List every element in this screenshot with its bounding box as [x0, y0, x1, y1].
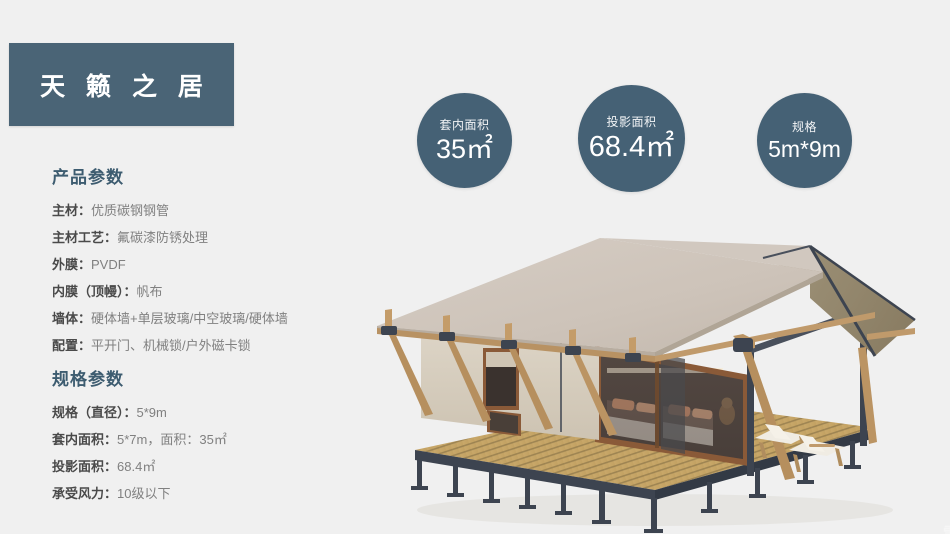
spec-label: 投影面积：	[52, 459, 117, 474]
product-parameters-section: 产品参数 主材：优质碳钢钢管 主材工艺：氟碳漆防锈处理 外膜：PVDF 内膜（顶…	[52, 163, 288, 359]
spec-label: 主材工艺：	[52, 230, 117, 245]
specification-parameters-heading: 规格参数	[52, 365, 227, 390]
spec-row: 外膜：PVDF	[52, 251, 288, 278]
spec-value: 硬体墙+单层玻璃/中空玻璃/硬体墙	[91, 311, 288, 326]
glamping-tent-render: 雪狼帐篷 XUELANG TENT	[355, 228, 950, 534]
badge-label: 投影面积	[606, 116, 656, 128]
spec-label: 内膜（顶幔）：	[52, 284, 137, 299]
product-parameters-heading: 产品参数	[52, 163, 288, 188]
badge-value: 68.4㎡	[589, 133, 674, 162]
spec-label: 配置：	[52, 338, 91, 353]
spec-row: 配置：平开门、机械锁/户外磁卡锁	[52, 332, 288, 359]
spec-row: 墙体：硬体墙+单层玻璃/中空玻璃/硬体墙	[52, 305, 288, 332]
spec-value: PVDF	[91, 257, 126, 272]
spec-label: 规格（直径）：	[52, 405, 137, 420]
spec-row: 套内面积：5*7m，面积：35㎡	[52, 426, 227, 453]
spec-label: 外膜：	[52, 257, 91, 272]
spec-value: 优质碳钢钢管	[91, 203, 169, 218]
spec-value: 氟碳漆防锈处理	[117, 230, 208, 245]
spec-label: 套内面积：	[52, 432, 117, 447]
badge-value: 5m*9m	[768, 138, 841, 161]
page-title: 天 籁 之 居	[33, 67, 210, 103]
spec-value: 5*9m	[137, 405, 167, 420]
specification-parameters-section: 规格参数 规格（直径）：5*9m 套内面积：5*7m，面积：35㎡ 投影面积：6…	[52, 365, 227, 507]
spec-row: 主材：优质碳钢钢管	[52, 197, 288, 224]
spec-row: 投影面积：68.4㎡	[52, 453, 227, 480]
spec-value: 帆布	[137, 284, 163, 299]
badge-projected-area: 投影面积 68.4㎡	[578, 85, 685, 192]
spec-value: 68.4㎡	[117, 459, 155, 474]
spec-row: 承受风力：10级以下	[52, 480, 227, 507]
badge-dimensions: 规格 5m*9m	[757, 93, 852, 188]
badge-label: 套内面积	[439, 119, 489, 131]
product-spec-page: 天 籁 之 居 产品参数 主材：优质碳钢钢管 主材工艺：氟碳漆防锈处理 外膜：P…	[0, 0, 950, 534]
spec-row: 内膜（顶幔）：帆布	[52, 278, 288, 305]
spec-value: 10级以下	[117, 486, 170, 501]
badge-value: 35㎡	[436, 136, 493, 163]
spec-label: 承受风力：	[52, 486, 117, 501]
spec-row: 规格（直径）：5*9m	[52, 399, 227, 426]
badge-label: 规格	[792, 121, 817, 133]
title-banner: 天 籁 之 居	[9, 43, 234, 126]
spec-label: 主材：	[52, 203, 91, 218]
spec-label: 墙体：	[52, 311, 91, 326]
spec-value: 平开门、机械锁/户外磁卡锁	[91, 338, 251, 353]
spec-value: 5*7m，面积：35㎡	[117, 432, 227, 447]
spec-row: 主材工艺：氟碳漆防锈处理	[52, 224, 288, 251]
badge-interior-area: 套内面积 35㎡	[417, 93, 512, 188]
